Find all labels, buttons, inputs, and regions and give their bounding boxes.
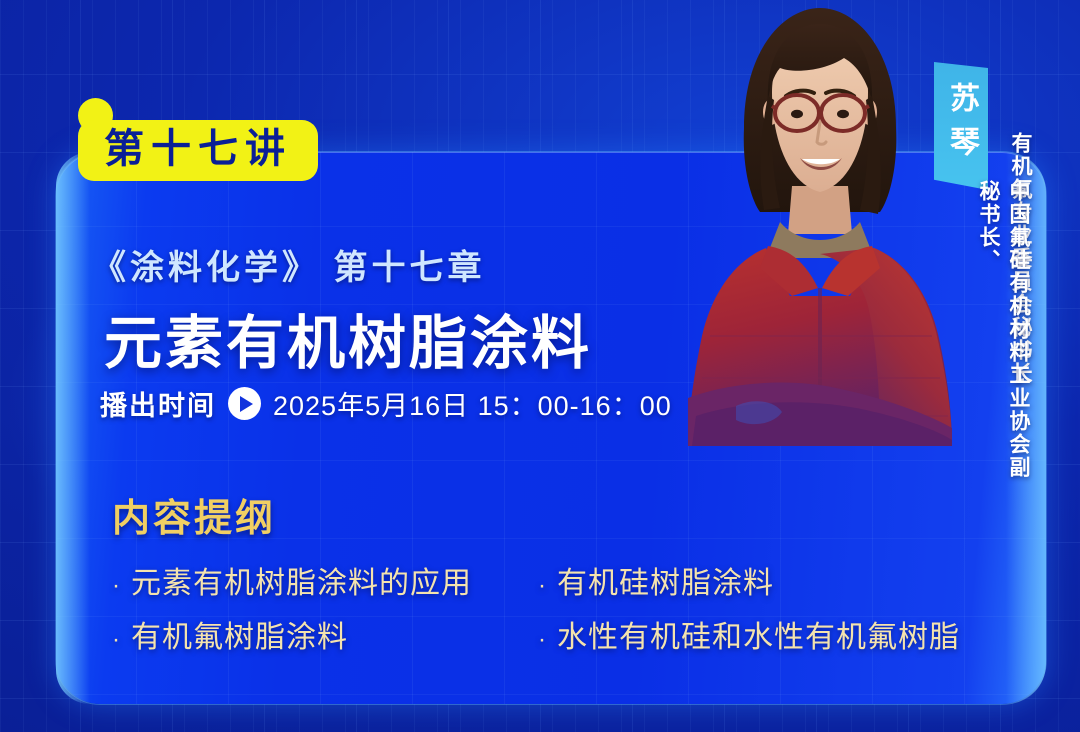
bullet-icon: · xyxy=(112,628,121,652)
broadcast-time-row: 播出时间 2025年5月16日 15：00-16：00 xyxy=(100,384,672,423)
list-item-label: 有机硅树脂涂料 xyxy=(557,558,774,602)
play-icon[interactable] xyxy=(228,387,261,420)
list-item: · 有机氟树脂涂料 xyxy=(112,612,472,656)
outline-column-right: · 有机硅树脂涂料 · 水性有机硅和水性有机氟树脂 xyxy=(538,558,960,656)
page-title: 元素有机树脂涂料 xyxy=(104,296,592,380)
outline-column-left: · 元素有机树脂涂料的应用 · 有机氟树脂涂料 xyxy=(112,558,472,656)
outline-columns: · 元素有机树脂涂料的应用 · 有机氟树脂涂料 · 有机硅树脂涂料 · 水性有机… xyxy=(112,558,960,656)
card-left-glow-edge xyxy=(56,152,90,704)
bullet-icon: · xyxy=(538,628,547,652)
course-subtitle: 《涂料化学》 第十七章 xyxy=(92,240,485,289)
list-item-label: 水性有机硅和水性有机氟树脂 xyxy=(557,612,960,656)
bullet-icon: · xyxy=(112,574,121,598)
list-item: · 有机硅树脂涂料 xyxy=(538,558,960,602)
outline-heading: 内容提纲 xyxy=(112,487,276,542)
list-item-label: 有机氟树脂涂料 xyxy=(131,612,348,656)
lecture-number-badge: 第十七讲 xyxy=(78,120,318,181)
speaker-name-ribbon: 苏琴 xyxy=(934,62,988,190)
play-triangle xyxy=(240,396,253,412)
broadcast-time-value: 2025年5月16日 15：00-16：00 xyxy=(273,384,672,423)
speaker-credentials-line-2: 中国氟硅有机材料工业协会副秘书长、 xyxy=(973,180,1033,480)
list-item-label: 元素有机树脂涂料的应用 xyxy=(131,558,472,602)
lecture-badge-group: 第十七讲 xyxy=(78,120,318,181)
bullet-icon: · xyxy=(538,574,547,598)
broadcast-time-label: 播出时间 xyxy=(100,384,216,423)
list-item: · 元素有机树脂涂料的应用 xyxy=(112,558,472,602)
list-item: · 水性有机硅和水性有机氟树脂 xyxy=(538,612,960,656)
speaker-name: 苏琴 xyxy=(946,82,976,170)
